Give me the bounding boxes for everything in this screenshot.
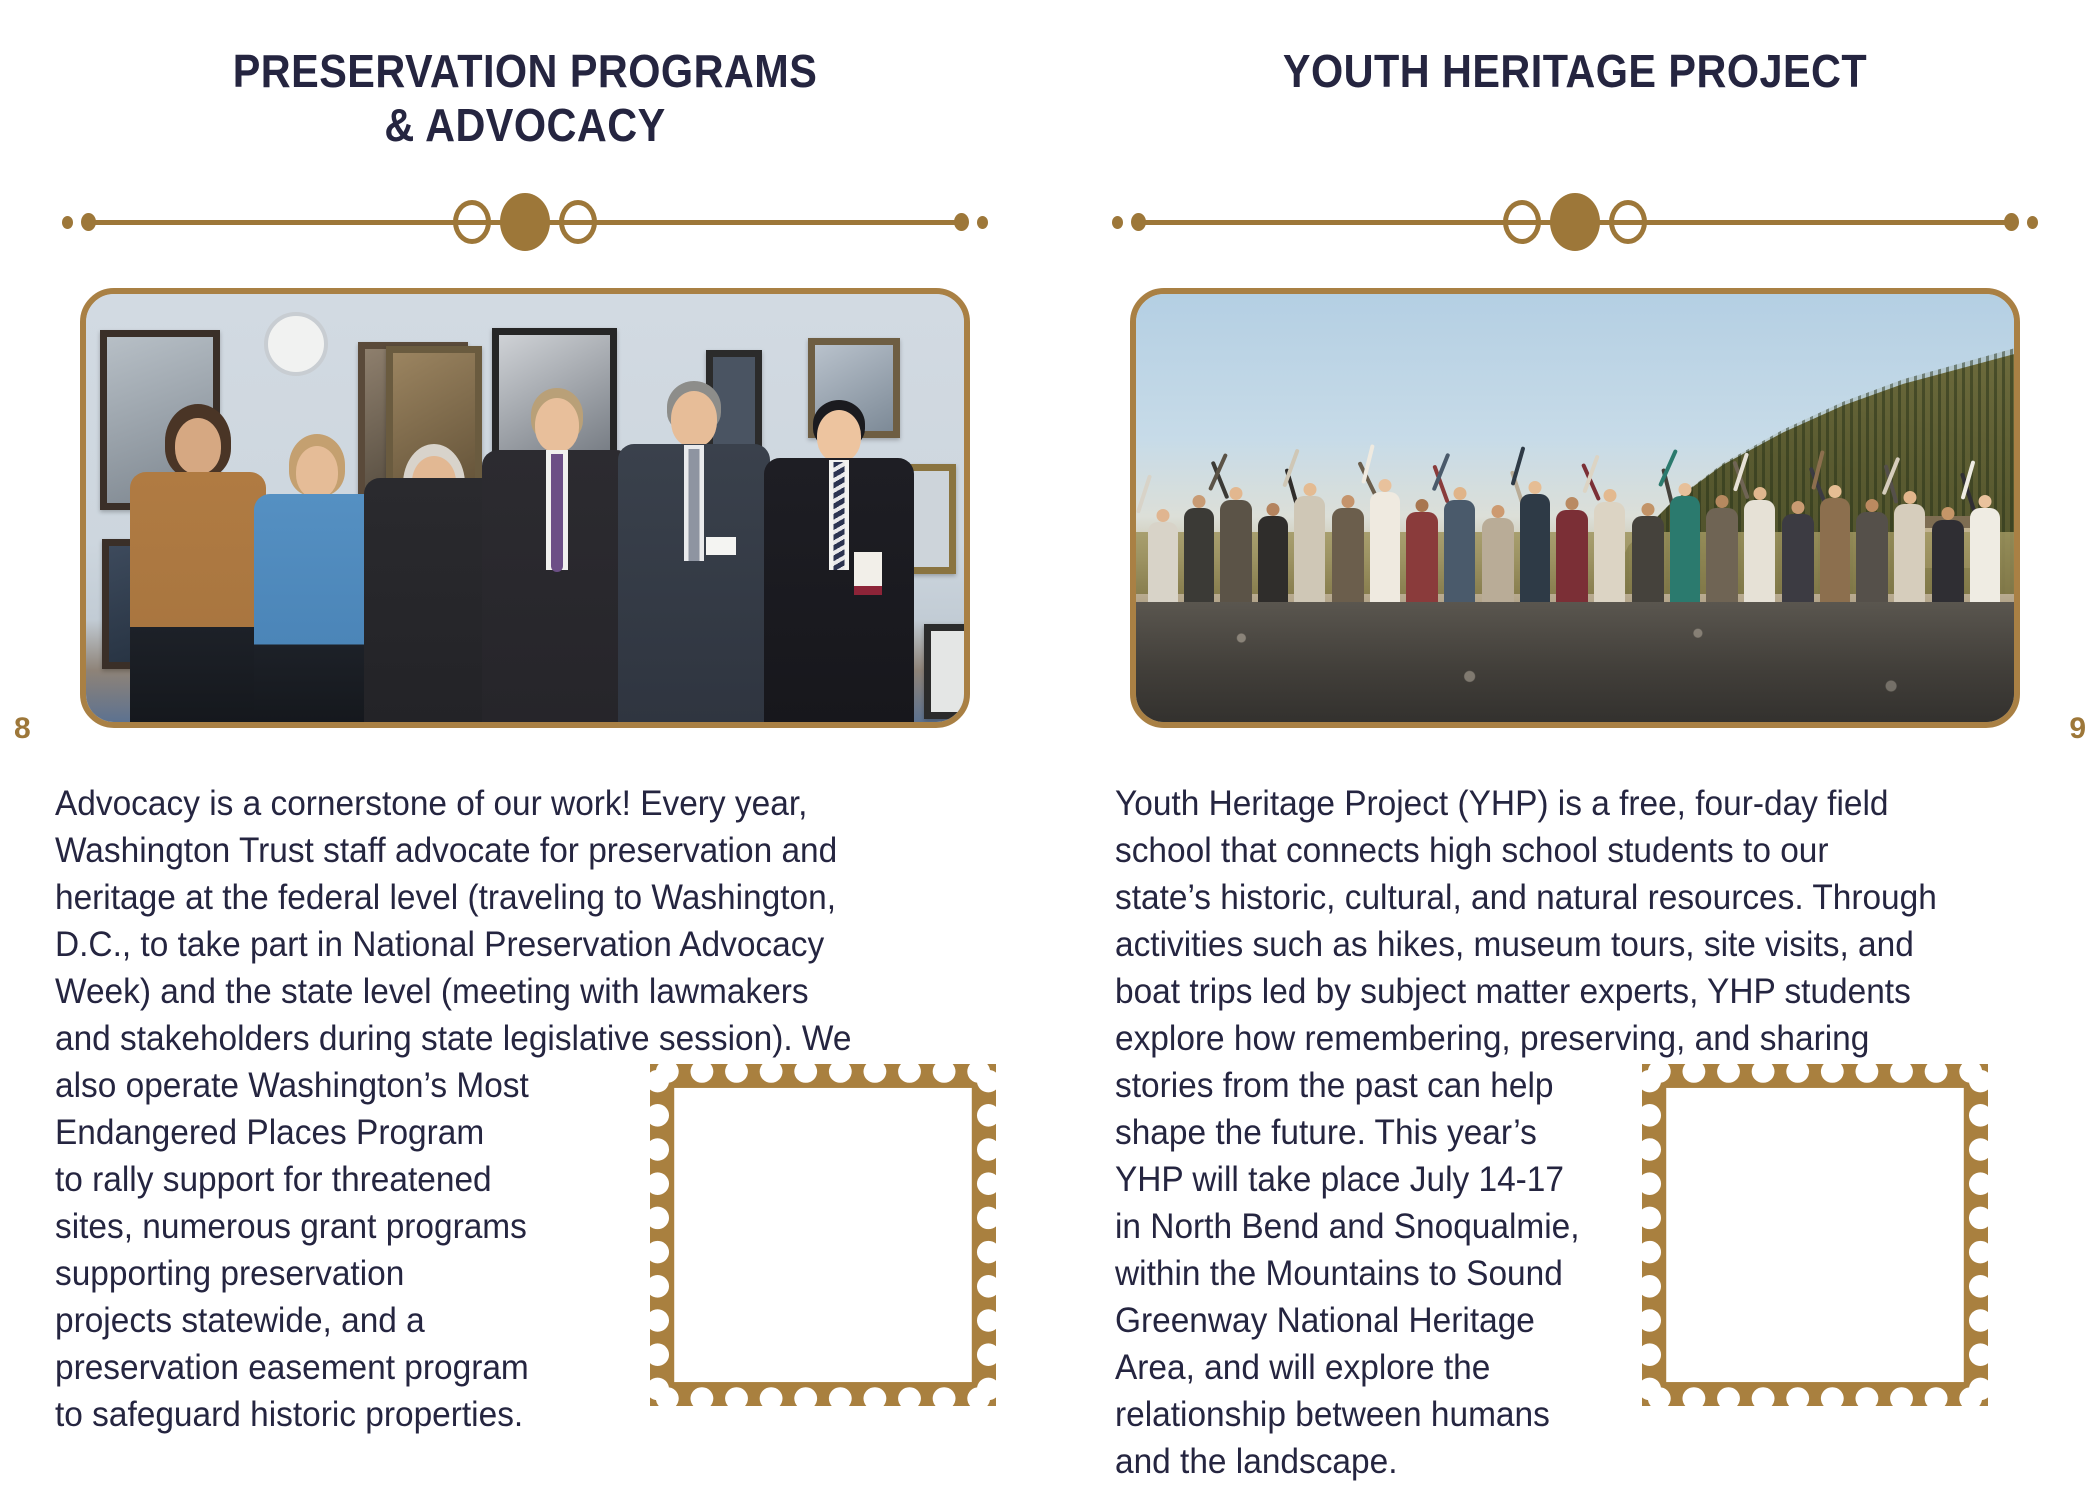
page-title-left: PRESERVATION PROGRAMS & ADVOCACY xyxy=(53,44,998,153)
page-title-right-line-1: YOUTH HERITAGE PROJECT xyxy=(1103,44,2048,98)
page-title-left-line-2: & ADVOCACY xyxy=(53,98,998,152)
page-title-left-line-1: PRESERVATION PROGRAMS xyxy=(53,44,998,98)
divider-ring-icon xyxy=(1503,200,1541,244)
photo-yhp-group xyxy=(1130,288,2020,728)
divider-solid-circle-icon xyxy=(1550,193,1600,251)
photo-advocacy-group xyxy=(80,288,970,728)
divider-ring-icon xyxy=(559,200,597,244)
divider-solid-circle-icon xyxy=(500,193,550,251)
divider-dot-icon xyxy=(954,213,969,231)
person-figure xyxy=(764,402,914,722)
person-figure xyxy=(130,412,266,722)
divider-dot-icon xyxy=(1131,213,1146,231)
page-number-right: 9 xyxy=(2069,712,2086,746)
person-figure xyxy=(482,392,632,722)
wall-frame-icon xyxy=(924,624,964,719)
divider-center-ornament xyxy=(1503,193,1647,251)
ornamental-divider-left xyxy=(62,196,988,248)
person-figure xyxy=(254,432,380,722)
divider-dot-icon xyxy=(977,216,988,229)
divider-dot-icon xyxy=(62,216,73,229)
right-page: YOUTH HERITAGE PROJECT xyxy=(1050,0,2100,1470)
left-page: PRESERVATION PROGRAMS & ADVOCACY xyxy=(0,0,1050,1470)
pebble-beach-foreground xyxy=(1136,602,2014,722)
divider-dot-icon xyxy=(2004,213,2019,231)
divider-ring-icon xyxy=(1609,200,1647,244)
divider-center-ornament xyxy=(453,193,597,251)
divider-dot-icon xyxy=(81,213,96,231)
postage-stamp-right xyxy=(1642,1064,1988,1406)
wall-clock-icon xyxy=(264,312,328,376)
divider-dot-icon xyxy=(1112,216,1123,229)
divider-dot-icon xyxy=(2027,216,2038,229)
magazine-spread: PRESERVATION PROGRAMS & ADVOCACY xyxy=(0,0,2100,1470)
page-title-right: YOUTH HERITAGE PROJECT xyxy=(1103,44,2048,98)
postage-stamp-left xyxy=(650,1064,996,1406)
page-number-left: 8 xyxy=(14,712,31,746)
ornamental-divider-right xyxy=(1112,196,2038,248)
divider-ring-icon xyxy=(453,200,491,244)
person-figure xyxy=(618,387,770,722)
